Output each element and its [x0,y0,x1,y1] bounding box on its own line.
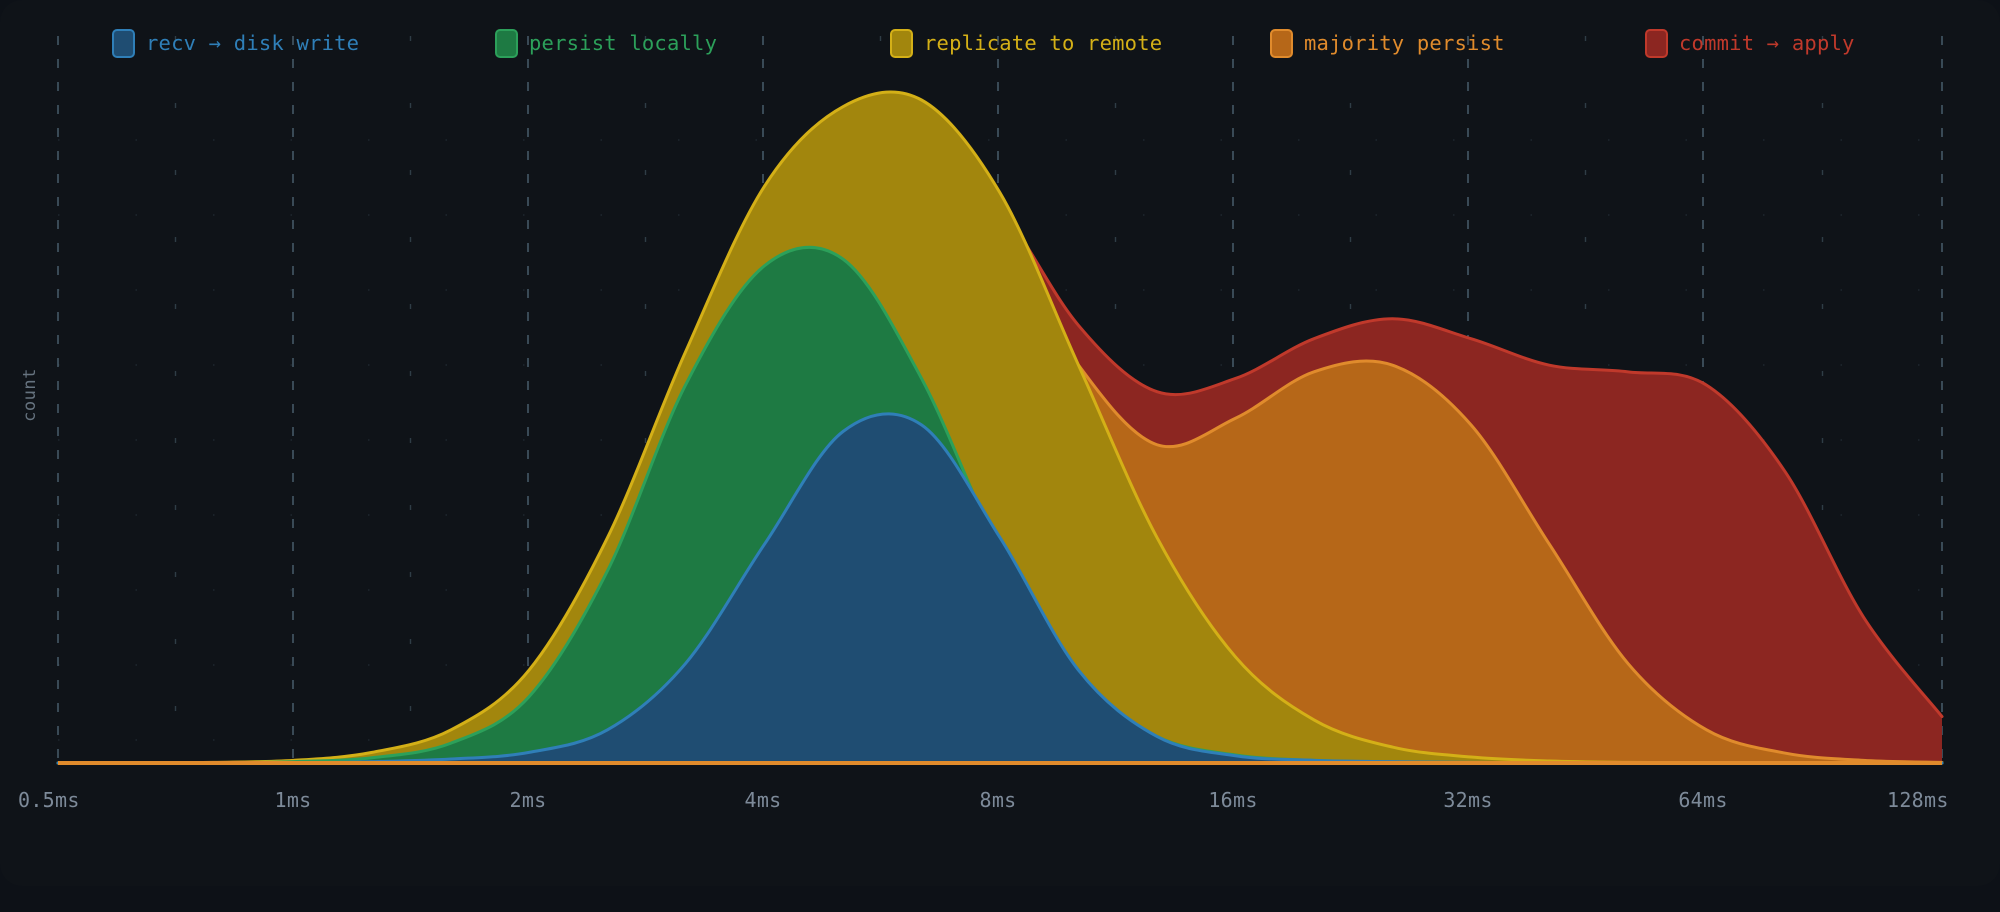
legend-label: persist locally [529,31,717,55]
chart-page: recv → disk writepersist locallyreplicat… [0,0,2000,912]
x-axis-tick-2: 2ms [509,788,546,812]
x-axis-tick-6: 32ms [1443,788,1492,812]
series-layer [58,92,1942,763]
legend-label: recv → disk write [146,31,359,55]
legend-label: majority persist [1304,31,1505,55]
legend-item-4[interactable]: commit → apply [1645,27,1855,59]
chart-legend: recv → disk writepersist locallyreplicat… [0,27,2000,59]
area-chart-plot[interactable] [0,0,2000,886]
x-axis-tick-8: 128ms [1887,788,1949,812]
legend-item-3[interactable]: majority persist [1270,27,1505,59]
x-axis-tick-3: 4ms [744,788,781,812]
x-axis-tick-5: 16ms [1208,788,1257,812]
chart-card: recv → disk writepersist locallyreplicat… [0,0,2000,886]
legend-label: commit → apply [1679,31,1855,55]
legend-swatch-icon [495,29,518,58]
x-axis-tick-7: 64ms [1678,788,1727,812]
legend-swatch-icon [112,29,135,58]
x-axis-tick-4: 8ms [979,788,1016,812]
x-axis-tick-1: 1ms [274,788,311,812]
legend-swatch-icon [1645,29,1668,58]
legend-swatch-icon [1270,29,1293,58]
legend-item-2[interactable]: replicate to remote [890,27,1162,59]
legend-swatch-icon [890,29,913,58]
legend-label: replicate to remote [924,31,1162,55]
y-axis-label: count [20,355,40,435]
legend-item-0[interactable]: recv → disk write [112,27,359,59]
legend-item-1[interactable]: persist locally [495,27,717,59]
x-axis-tick-0: 0.5ms [18,788,80,812]
